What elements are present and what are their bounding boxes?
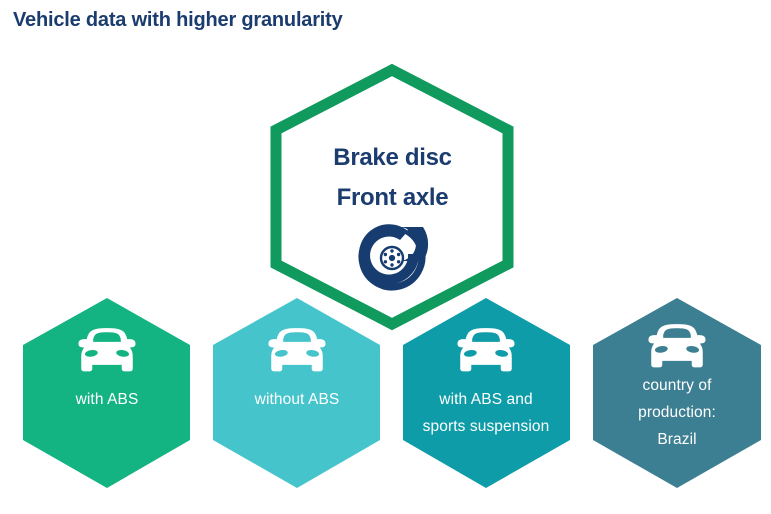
hexagon-diagram: Brake disc Front axle with ABS without A… [0, 0, 771, 514]
with-abs-and-sports-suspension-hexagon[interactable] [403, 298, 570, 488]
slide-canvas: Vehicle data with higher granularity [0, 0, 771, 514]
without-abs-hexagon[interactable] [213, 298, 380, 488]
label-backing-bar [403, 396, 570, 440]
hexagon-shapes [0, 0, 771, 514]
with-abs-hexagon[interactable] [23, 298, 190, 488]
